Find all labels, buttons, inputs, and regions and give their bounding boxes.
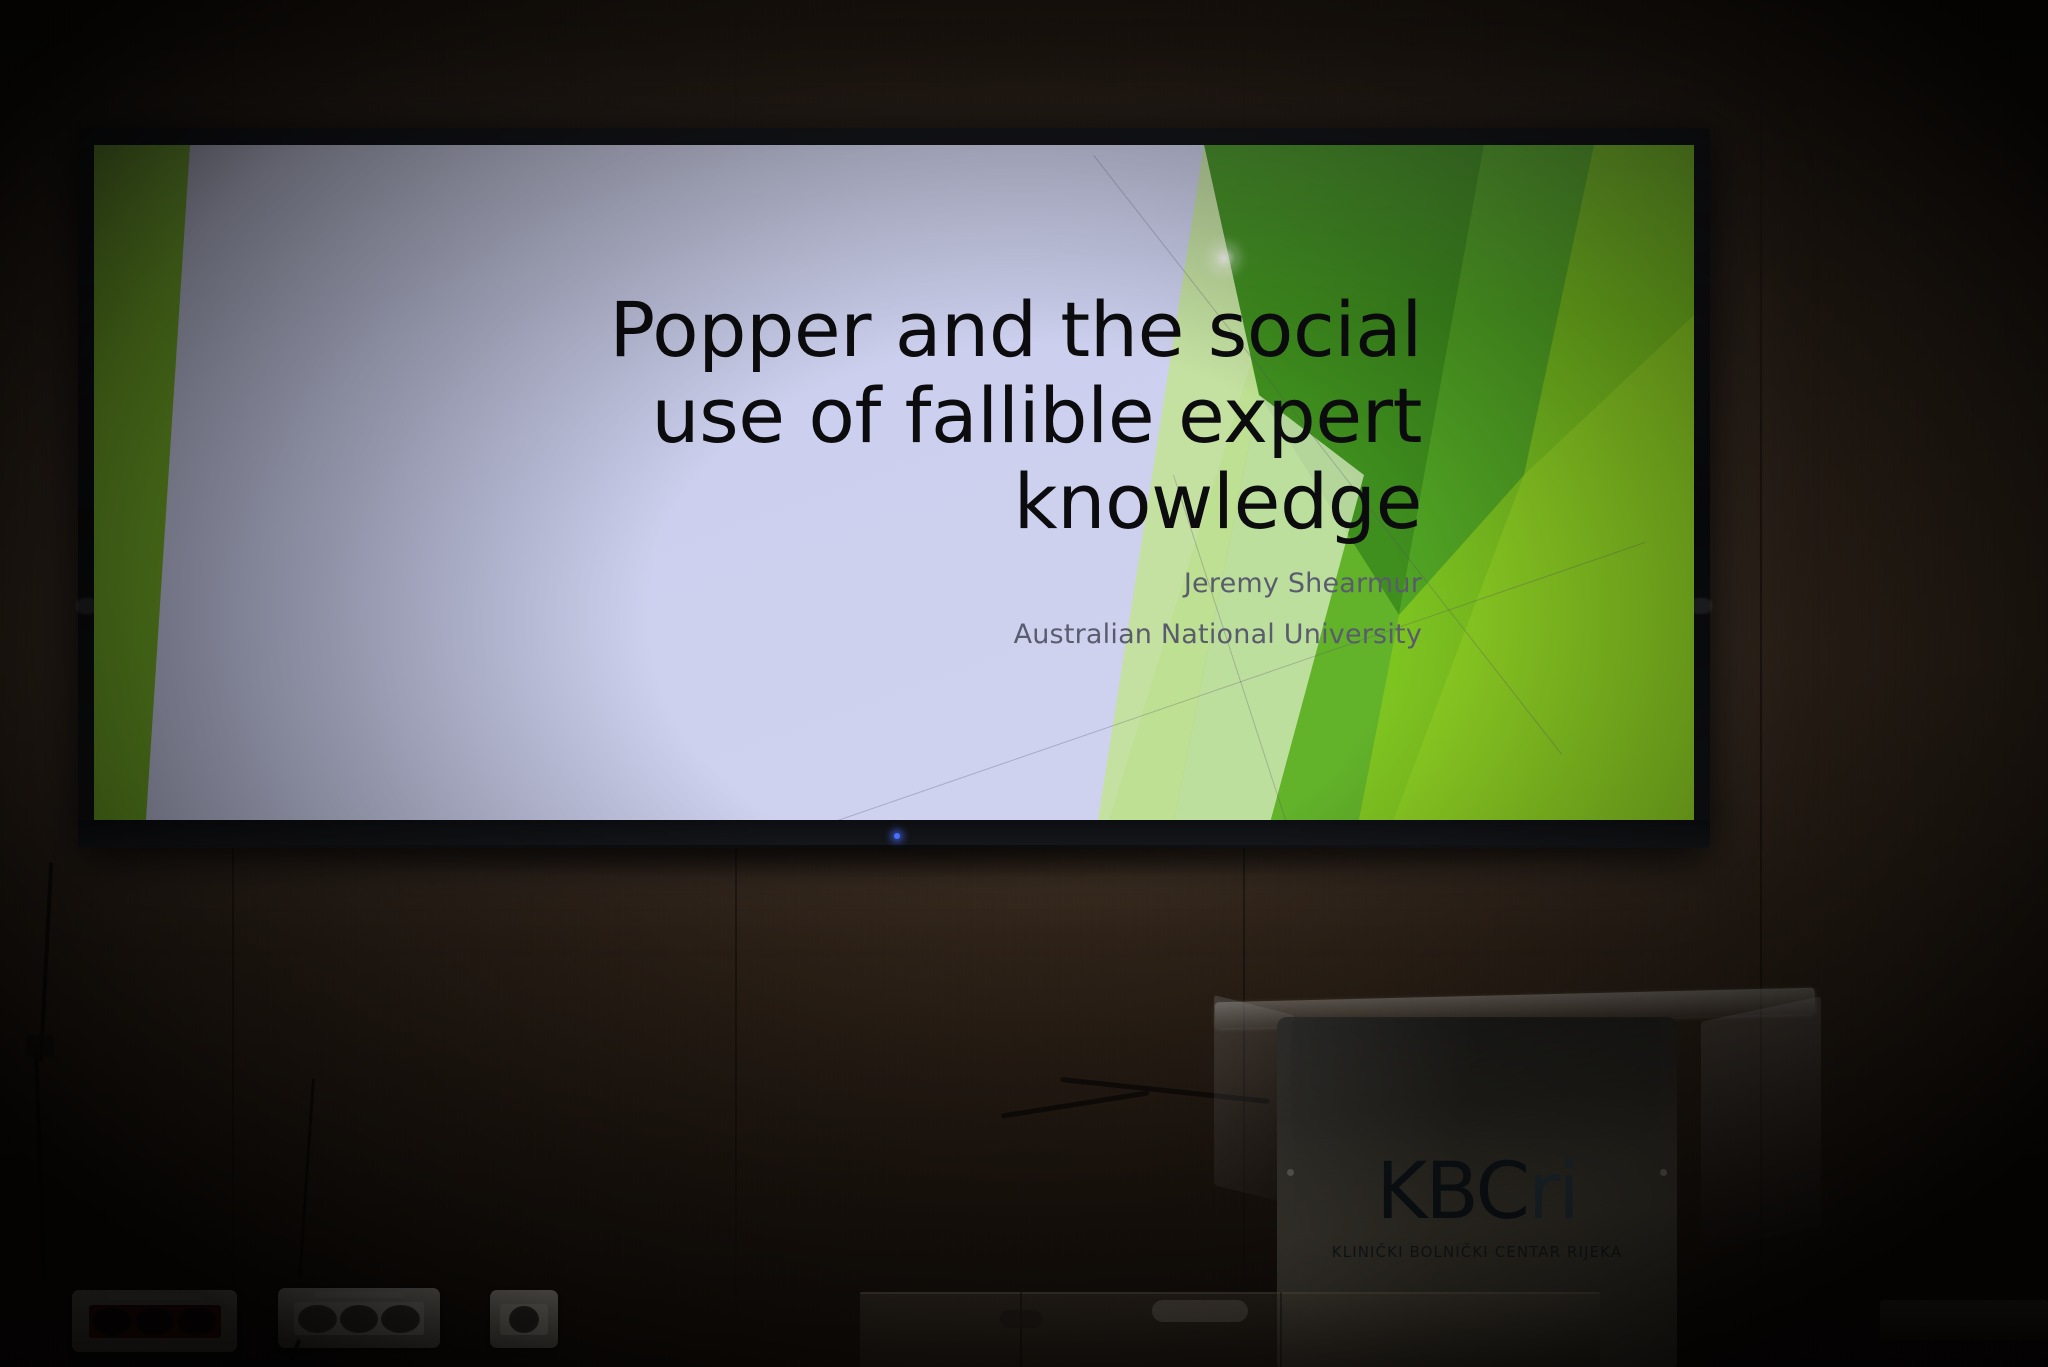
- thin-cable-center-left: [298, 1078, 315, 1278]
- tv-rear-cable-bundle-2: [1001, 1090, 1150, 1118]
- kbcri-logo-ri: ri: [1528, 1147, 1578, 1237]
- outlet-socket[interactable]: [381, 1305, 420, 1333]
- tv-screen: Popper and the social use of fallible ex…: [94, 145, 1694, 820]
- tv-drop-shadow: [110, 845, 1680, 879]
- tv-power-led: [894, 833, 900, 839]
- outlet-label-strip: [314, 1292, 405, 1297]
- power-cable-left: [39, 862, 53, 1062]
- outlet-socket[interactable]: [509, 1306, 538, 1333]
- outlet-socket[interactable]: [92, 1307, 132, 1336]
- slide-author: Jeremy Shearmur: [366, 568, 1422, 599]
- outlet-label-strip: [108, 1294, 200, 1300]
- outlet-recess: [500, 1304, 549, 1335]
- outlet-socket[interactable]: [177, 1307, 217, 1336]
- slide-accent-left-wedge: [94, 145, 284, 820]
- cable-clip-left: [26, 1035, 54, 1057]
- power-outlet-red[interactable]: [72, 1290, 237, 1352]
- counter-divider: [1280, 1292, 1282, 1367]
- power-outlet-white[interactable]: [278, 1288, 440, 1348]
- ceiling-light-reflection: [1211, 245, 1237, 271]
- desk-object-dark: [1000, 1310, 1042, 1328]
- outlet-socket-plugged[interactable]: [298, 1305, 337, 1333]
- power-cable-left-lower: [34, 1050, 46, 1280]
- slide-title-line-2: use of fallible expert: [651, 371, 1422, 460]
- kbcri-logo-kbc: KBC: [1376, 1147, 1528, 1237]
- slide-title: Popper and the social use of fallible ex…: [366, 287, 1422, 545]
- slide-affiliation: Australian National University: [366, 619, 1422, 650]
- conference-room-scene: Popper and the social use of fallible ex…: [0, 0, 2048, 1367]
- lectern-glass-wing-right: [1701, 996, 1821, 1252]
- slide-text-block: Popper and the social use of fallible ex…: [366, 287, 1422, 651]
- kbcri-logo-text: KBCri: [1277, 1153, 1677, 1231]
- outlet-socket[interactable]: [135, 1307, 175, 1336]
- outlet-recess: [89, 1305, 221, 1338]
- outlet-socket[interactable]: [340, 1305, 379, 1333]
- kbcri-logo-subtitle: KLINIČKI BOLNIČKI CENTAR RIJEKA: [1277, 1243, 1677, 1261]
- wall-mounted-television[interactable]: Popper and the social use of fallible ex…: [78, 128, 1710, 848]
- slide-title-line-3: knowledge: [1014, 457, 1422, 546]
- kbcri-logo: KBCri KLINIČKI BOLNIČKI CENTAR RIJEKA: [1277, 1153, 1677, 1261]
- desk-object-paper: [1152, 1300, 1248, 1322]
- tv-bottom-bezel: [78, 820, 1710, 848]
- presentation-slide: Popper and the social use of fallible ex…: [94, 145, 1694, 820]
- power-outlet-small[interactable]: [490, 1290, 558, 1348]
- right-desk-surface: [1880, 1300, 2048, 1340]
- slide-title-line-1: Popper and the social: [609, 285, 1422, 374]
- counter-divider: [1020, 1292, 1022, 1367]
- counter-edge-highlight: [860, 1292, 1600, 1294]
- outlet-recess: [294, 1302, 424, 1334]
